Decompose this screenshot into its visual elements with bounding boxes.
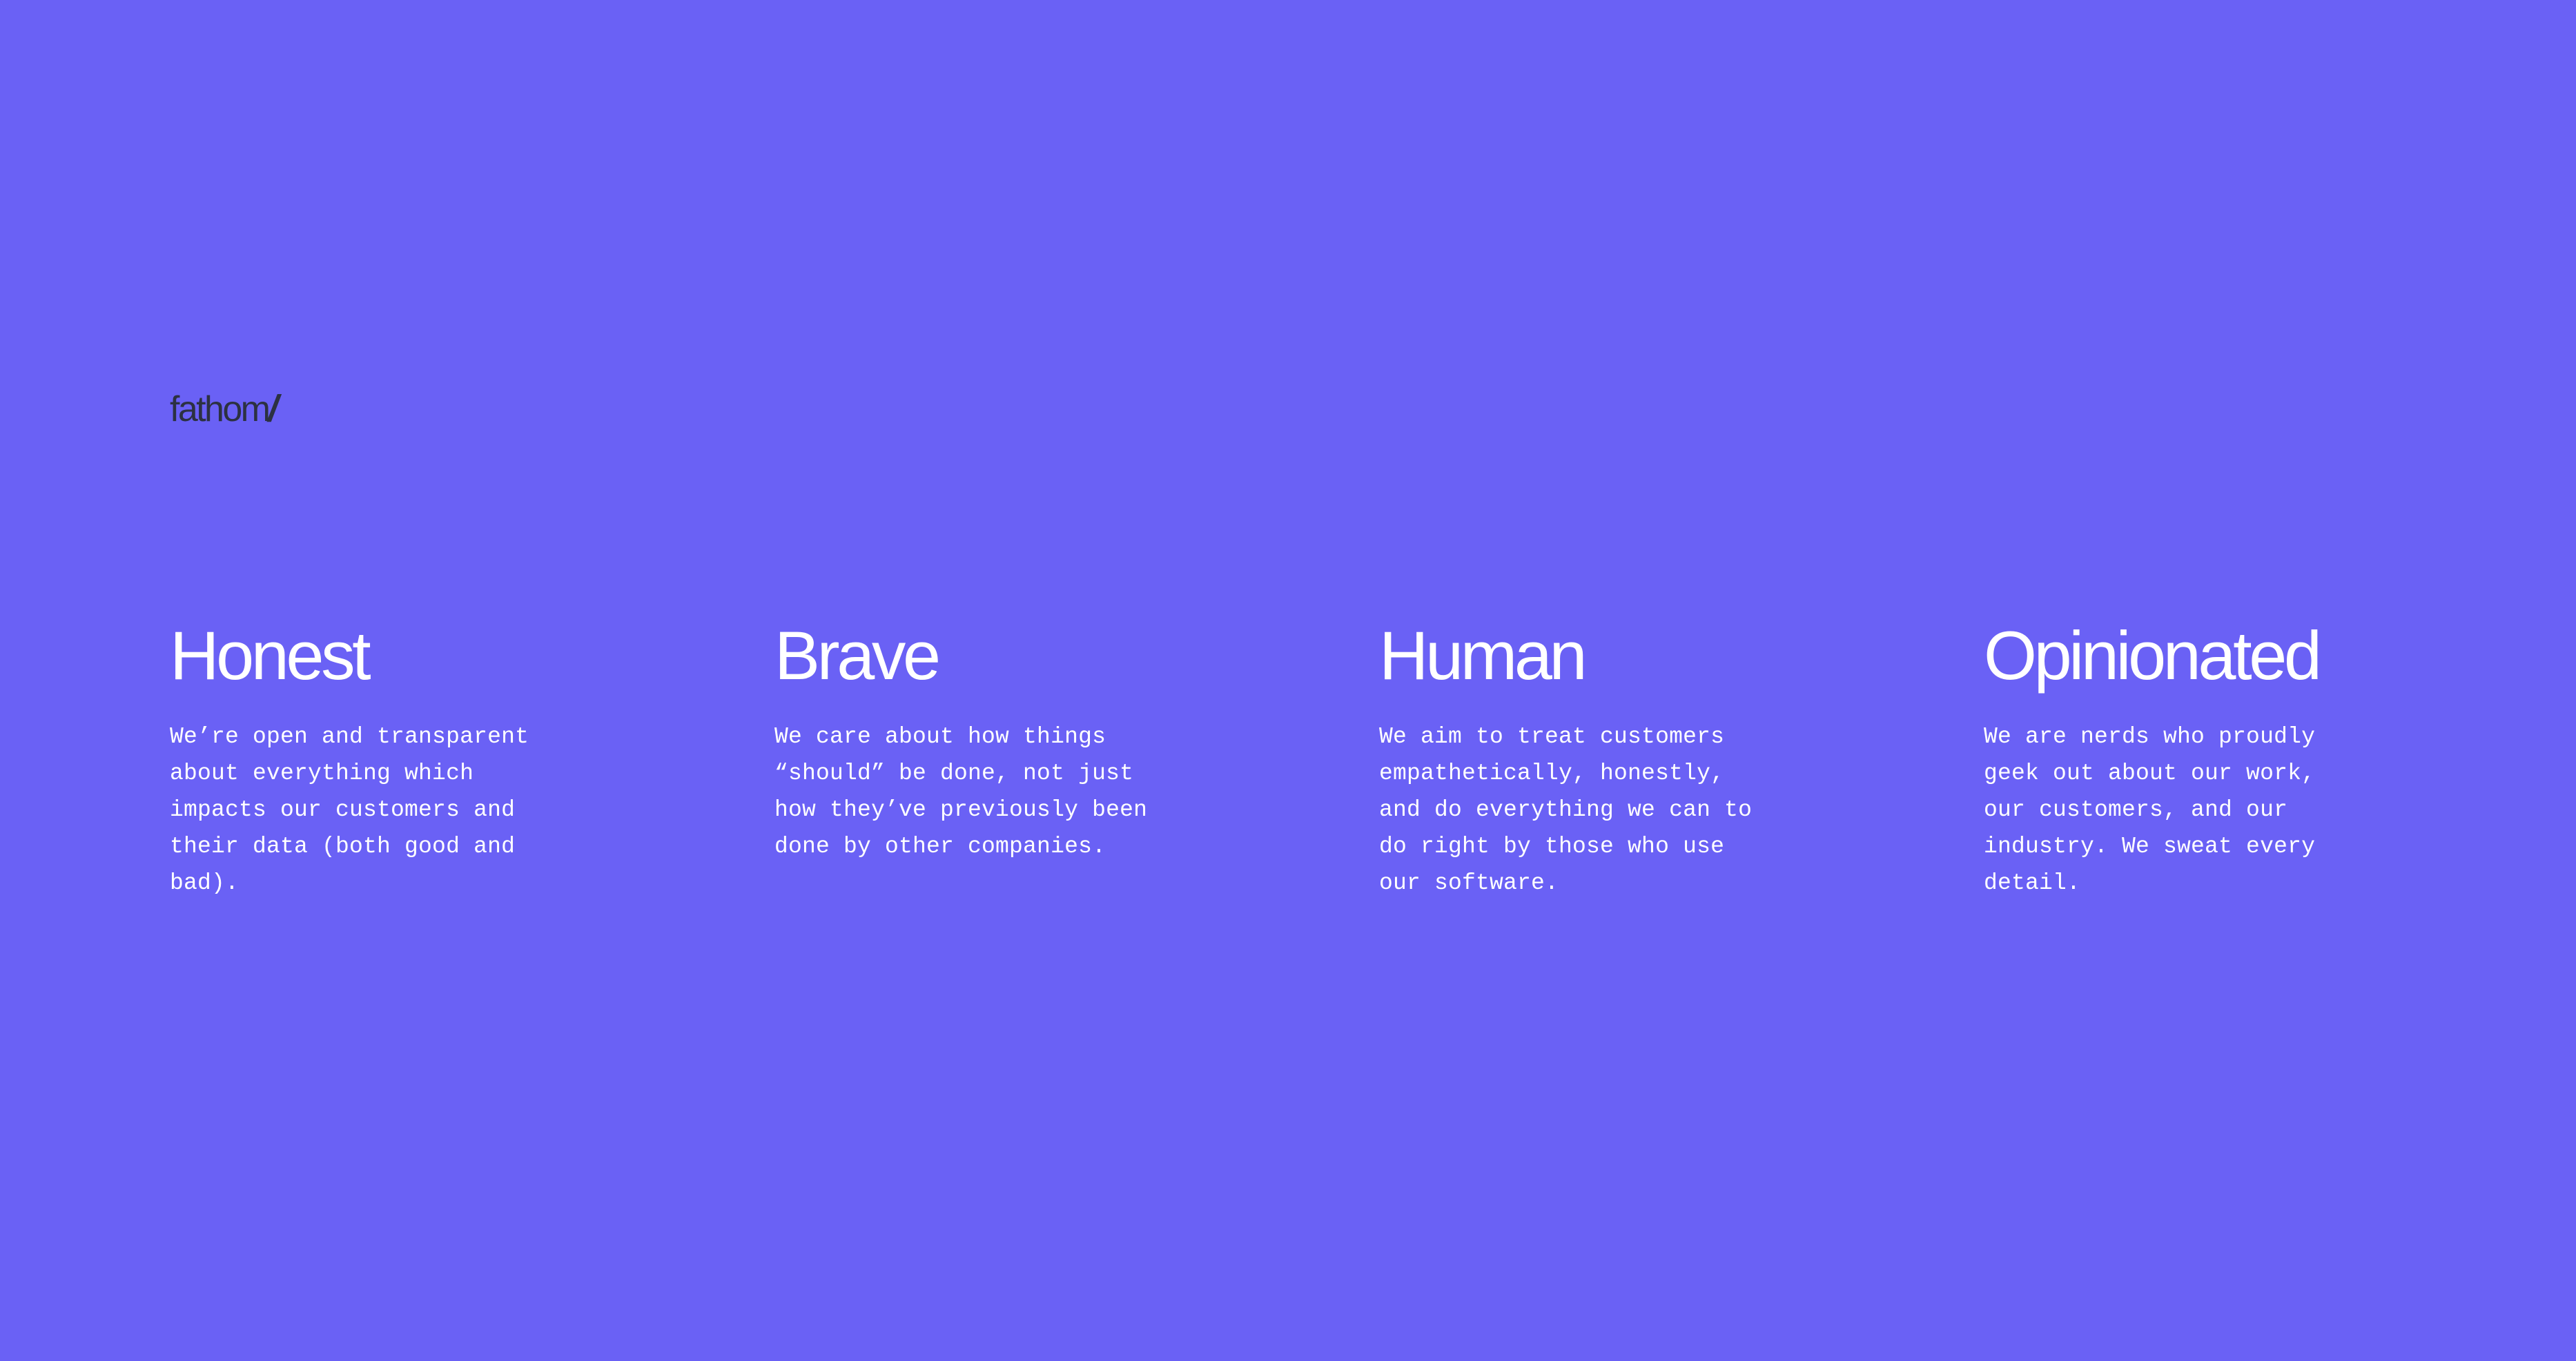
- value-description: We aim to treat customers empathetically…: [1379, 689, 1766, 901]
- value-card-honest: Honest We’re open and transparent about …: [170, 621, 556, 901]
- value-description: We are nerds who proudly geek out about …: [1984, 689, 2370, 901]
- value-title: Human: [1379, 621, 1766, 689]
- brand-slash-icon: /: [268, 390, 277, 427]
- value-card-brave: Brave We care about how things “should” …: [774, 621, 1161, 865]
- value-title: Honest: [170, 621, 556, 689]
- brand-logo[interactable]: fathom /: [170, 390, 277, 427]
- value-card-opinionated: Opinionated We are nerds who proudly gee…: [1984, 621, 2370, 901]
- value-description: We care about how things “should” be don…: [774, 689, 1161, 865]
- values-page: fathom / Honest We’re open and transpare…: [0, 0, 2576, 1361]
- value-title: Brave: [774, 621, 1161, 689]
- value-title: Opinionated: [1984, 621, 2370, 689]
- brand-name: fathom: [170, 391, 269, 427]
- values-grid: Honest We’re open and transparent about …: [170, 621, 2372, 901]
- value-card-human: Human We aim to treat customers empathet…: [1379, 621, 1766, 901]
- value-description: We’re open and transparent about everyth…: [170, 689, 556, 901]
